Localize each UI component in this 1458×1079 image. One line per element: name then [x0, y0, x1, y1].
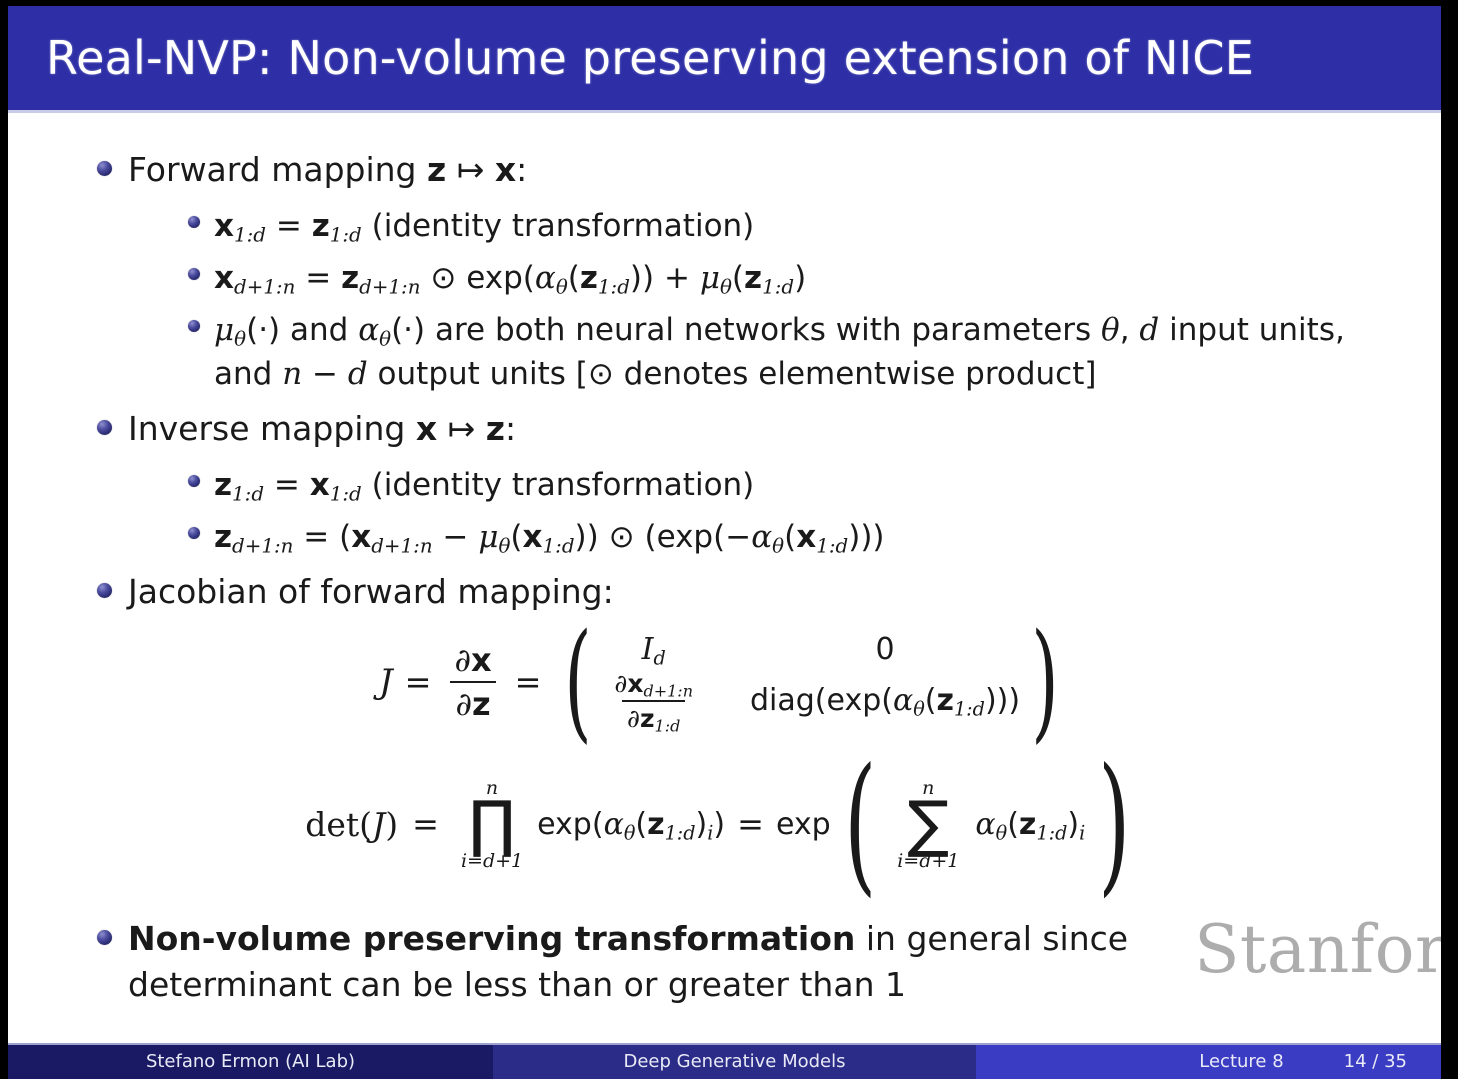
- alpha-symbol: α: [751, 519, 772, 555]
- exp-operator: exp(: [537, 807, 603, 842]
- eq-lhs-var: x: [214, 208, 234, 244]
- equals-sign: =: [737, 805, 764, 843]
- eq-lhs-sub: 1:d: [232, 482, 264, 505]
- matrix-cell-22: diag(exp(αθ(z1:d))): [750, 683, 1020, 718]
- eq-note: (identity transformation): [372, 208, 755, 244]
- bullet-dot-icon: [97, 161, 112, 176]
- exp-operator: exp: [657, 519, 714, 555]
- theta-subscript: θ: [996, 821, 1008, 844]
- theta-subscript: θ: [720, 275, 732, 298]
- z-var: z: [937, 683, 954, 718]
- eq-rhs-var: x: [310, 467, 330, 503]
- forward-var-x: x: [495, 150, 516, 189]
- product-operator: n ∏ i=d+1: [461, 777, 523, 872]
- equals-sign: =: [276, 208, 302, 244]
- jacobian-label: Jacobian of forward mapping:: [128, 569, 614, 616]
- desc-comma: ,: [1120, 312, 1140, 348]
- identity-forward-eq: x1:d = z1:d (identity transformation): [214, 204, 754, 248]
- matrix-cell-21: ∂∂xxd+1:n ∂z1:d: [609, 669, 698, 733]
- bullet-jacobian: Jacobian of forward mapping:: [8, 569, 1441, 616]
- sum-lower-limit: i=d+1: [897, 850, 959, 872]
- odot-icon: ⊙: [588, 356, 614, 392]
- sub-bullet-scale-shift-inverse: zd+1:n = (xd+1:n − μθ(x1:d)) ⊙ (exp(−αθ(…: [8, 515, 1441, 559]
- bullet-forward-mapping: Forward mapping z ↦ x:: [8, 147, 1441, 194]
- footer-title: Deep Generative Models: [493, 1043, 976, 1079]
- scale-shift-forward-eq: xd+1:n = zd+1:n ⊙ exp(αθ(z1:d)) + μθ(z1:…: [214, 256, 806, 300]
- theta-subscript: θ: [234, 327, 246, 350]
- equals-sign: =: [515, 663, 542, 701]
- mu-symbol: μ: [478, 519, 498, 555]
- sum-open-paren: (: [844, 779, 876, 869]
- desc-frag-6: denotes elementwise product]: [614, 356, 1097, 392]
- desc-frag-3: input: [1159, 312, 1249, 348]
- index-sub: i: [1079, 821, 1085, 844]
- partial-x-sub: d+1:n: [643, 681, 693, 700]
- open-paren: (: [644, 519, 656, 555]
- d-symbol: d: [1139, 312, 1159, 348]
- sum-close-paren: ): [1098, 779, 1130, 869]
- identity-inverse-eq: z1:d = x1:d (identity transformation): [214, 463, 754, 507]
- desc-frag-5: output units [: [368, 356, 588, 392]
- partial-z-sub: 1:d: [655, 716, 681, 735]
- inverse-var-x: x: [416, 409, 437, 448]
- product-lower-limit: i=d+1: [461, 850, 523, 872]
- alpha-symbol: α: [358, 312, 379, 348]
- desc-frag-1: (·) and: [246, 312, 358, 348]
- diag-operator: diag(exp(: [750, 683, 893, 718]
- inner-sub: 1:d: [598, 275, 630, 298]
- bullet-dot-icon: [188, 268, 200, 280]
- forward-mapping-text: Forward mapping z ↦ x:: [128, 147, 527, 194]
- slide-body: Forward mapping z ↦ x: x1:d = z1:d (iden…: [8, 113, 1441, 1043]
- close-parens: ))): [985, 683, 1020, 718]
- inner-var: z: [744, 260, 762, 296]
- exp-operator: exp: [776, 807, 831, 842]
- inner-var: z: [580, 260, 598, 296]
- forward-colon: :: [516, 150, 527, 189]
- networks-desc-text: μθ(·) and αθ(·) are both neural networks…: [214, 308, 1374, 396]
- footer-lecture: Lecture 8: [1199, 1051, 1283, 1072]
- slide-footer: Stefano Ermon (AI Lab) Deep Generative M…: [8, 1043, 1441, 1079]
- det-operator: det(J): [305, 805, 398, 844]
- mu-arg-var: x: [523, 519, 543, 555]
- slide-canvas: Real-NVP: Non-volume preserving extensio…: [8, 6, 1441, 1079]
- inverse-mapping-label: Inverse mapping: [128, 409, 405, 448]
- slide-title: Real-NVP: Non-volume preserving extensio…: [8, 31, 1254, 85]
- forward-var-z: z: [427, 150, 446, 189]
- bullet-dot-icon: [97, 583, 112, 598]
- z-var: z: [647, 807, 664, 842]
- equation-jacobian: J = ∂x ∂z = ( Id 0 ∂∂xxd+1:n ∂z1:d diag(…: [8, 632, 1441, 733]
- d-symbol: d: [348, 356, 368, 392]
- matrix-cell-11: Id: [642, 632, 666, 667]
- minus-sign: −: [302, 356, 348, 392]
- matrix-open-paren: (: [565, 644, 592, 721]
- desc-frag-2: (·) are both neural networks with parame…: [391, 312, 1101, 348]
- sum-symbol: ∑: [907, 799, 949, 850]
- mu-symbol: μ: [214, 312, 234, 348]
- open-paren: (: [339, 519, 351, 555]
- slide-header: Real-NVP: Non-volume preserving extensio…: [8, 6, 1441, 110]
- equation-determinant: det(J) = n ∏ i=d+1 exp(αθ(z1:d)i) = exp …: [8, 777, 1441, 872]
- alpha-arg-var: x: [796, 519, 816, 555]
- eq-rhs-var: z: [341, 260, 359, 296]
- eq-lhs-var: z: [214, 519, 232, 555]
- equals-sign: =: [305, 260, 331, 296]
- x-sub: d+1:n: [371, 534, 432, 557]
- footer-top-rule: [8, 1043, 1441, 1045]
- theta-subscript: θ: [379, 327, 391, 350]
- z-var: z: [1019, 807, 1036, 842]
- odot-icon: ⊙: [430, 260, 456, 296]
- identity-sub: d: [653, 646, 665, 669]
- equals-sign: =: [274, 467, 300, 503]
- close-paren: ): [587, 519, 599, 555]
- eq-lhs-sub: 1:d: [234, 223, 266, 246]
- eq-lhs-var: x: [214, 260, 234, 296]
- sub-bullet-networks-desc: μθ(·) and αθ(·) are both neural networks…: [8, 308, 1441, 396]
- x-var: x: [351, 519, 371, 555]
- bullet-dot-icon: [188, 320, 200, 332]
- theta-symbol: θ: [1101, 312, 1120, 348]
- footer-meta: Lecture 8 14 / 35: [976, 1043, 1441, 1079]
- close-paren: ): [713, 807, 725, 842]
- alpha-symbol: α: [975, 807, 995, 842]
- inverse-colon: :: [505, 409, 516, 448]
- jacobian-J: J: [379, 662, 393, 702]
- eq-note: (identity transformation): [372, 467, 755, 503]
- z-sub: 1:d: [665, 821, 696, 844]
- z-sub: 1:d: [954, 698, 985, 721]
- eq-lhs-sub: d+1:n: [232, 534, 293, 557]
- eq-lhs-sub: d+1:n: [234, 275, 295, 298]
- jacobian-matrix: Id 0 ∂∂xxd+1:n ∂z1:d diag(exp(αθ(z1:d))): [603, 632, 1020, 733]
- alpha-arg-sub: 1:d: [816, 534, 848, 557]
- video-frame: Real-NVP: Non-volume preserving extensio…: [0, 0, 1458, 1079]
- alpha-symbol: α: [893, 683, 913, 718]
- identity-symbol: I: [642, 632, 654, 667]
- sub-bullet-scale-shift-forward: xd+1:n = zd+1:n ⊙ exp(αθ(z1:d)) + μθ(z1:…: [8, 256, 1441, 300]
- bullet-dot-icon: [188, 216, 200, 228]
- det-term-1: exp(αθ(z1:d)i): [537, 807, 725, 842]
- eq-rhs-var: z: [312, 208, 330, 244]
- inverse-var-z: z: [486, 409, 505, 448]
- matrix-close-paren: ): [1031, 644, 1058, 721]
- bullet-dot-icon: [188, 527, 200, 539]
- theta-subscript: θ: [913, 698, 925, 721]
- equals-sign: =: [405, 663, 432, 701]
- alpha-symbol: α: [535, 260, 556, 296]
- minus-sign: −: [442, 519, 468, 555]
- product-symbol: ∏: [469, 799, 516, 850]
- eq-rhs-sub: 1:d: [330, 223, 362, 246]
- equals-sign: =: [303, 519, 329, 555]
- scale-shift-inverse-eq: zd+1:n = (xd+1:n − μθ(x1:d)) ⊙ (exp(−αθ(…: [214, 515, 885, 559]
- bullet-conclusion: Non-volume preserving transformation in …: [8, 916, 1441, 1010]
- inverse-mapping-text: Inverse mapping x ↦ z:: [128, 406, 516, 453]
- mapsto-icon: ↦: [448, 409, 476, 448]
- conclusion-text: Non-volume preserving transformation in …: [128, 916, 1318, 1010]
- odot-icon: ⊙: [609, 519, 635, 555]
- det-term-2: αθ(z1:d)i: [975, 807, 1085, 842]
- sub-bullet-identity-inverse: z1:d = x1:d (identity transformation): [8, 463, 1441, 507]
- bullet-inverse-mapping: Inverse mapping x ↦ z:: [8, 406, 1441, 453]
- bullet-dot-icon: [188, 475, 200, 487]
- sub-bullet-identity-forward: x1:d = z1:d (identity transformation): [8, 204, 1441, 248]
- theta-subscript: θ: [498, 534, 510, 557]
- footer-author: Stefano Ermon (AI Lab): [8, 1043, 493, 1079]
- mapsto-icon: ↦: [457, 150, 485, 189]
- plus-sign: +: [664, 260, 690, 296]
- conclusion-line2: be less than or greater than 1: [412, 965, 906, 1004]
- eq-rhs-sub: d+1:n: [359, 275, 420, 298]
- bullet-dot-icon: [97, 930, 112, 945]
- footer-page-number: 14 / 35: [1344, 1051, 1407, 1072]
- alpha-symbol: α: [604, 807, 624, 842]
- theta-subscript: θ: [624, 821, 636, 844]
- matrix-cell-12: 0: [875, 632, 894, 667]
- negation-sign: −: [725, 519, 751, 555]
- bullet-dot-icon: [97, 420, 112, 435]
- equals-sign: =: [412, 805, 439, 843]
- eq-rhs-sub: 1:d: [330, 482, 362, 505]
- exp-operator: exp: [466, 260, 523, 296]
- mu-symbol: μ: [700, 260, 720, 296]
- mu-arg-sub: 1:d: [543, 534, 575, 557]
- z-sub: 1:d: [1036, 821, 1067, 844]
- eq-lhs-var: z: [214, 467, 232, 503]
- theta-subscript: θ: [772, 534, 784, 557]
- n-symbol: n: [282, 356, 302, 392]
- theta-subscript: θ: [556, 275, 568, 298]
- sum-operator: n ∑ i=d+1: [897, 777, 959, 872]
- forward-mapping-label: Forward mapping: [128, 150, 417, 189]
- inner-sub: 1:d: [762, 275, 794, 298]
- conclusion-bold: Non-volume preserving transformation: [128, 919, 855, 958]
- close-paren: ): [872, 519, 884, 555]
